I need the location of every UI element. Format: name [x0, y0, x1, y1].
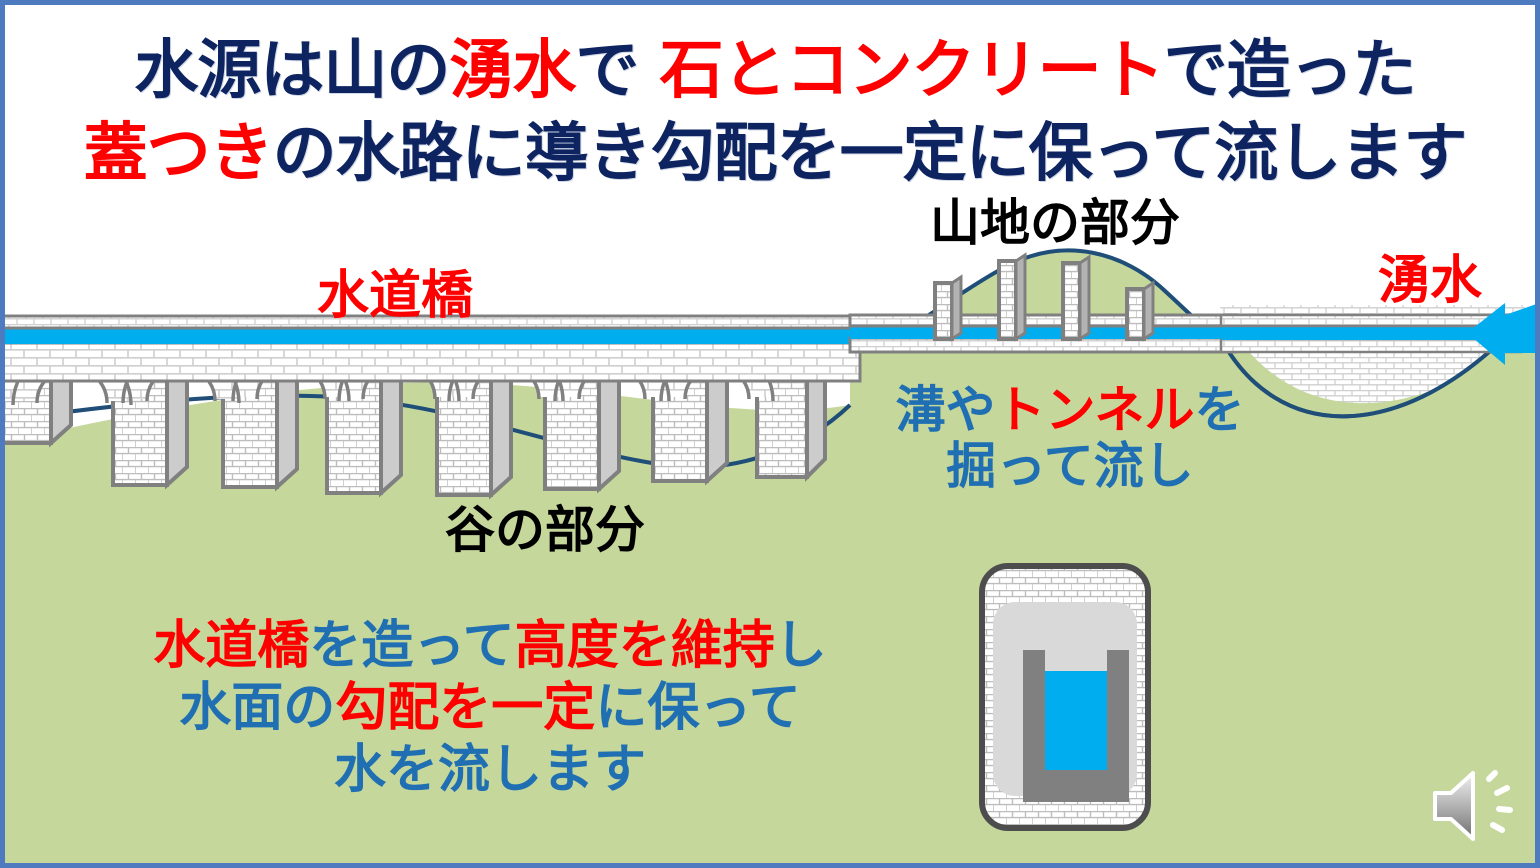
callout-tunnel-line-2: 掘って流し — [850, 441, 1290, 491]
label-mountain-section: 山地の部分 — [795, 198, 1315, 248]
callout-tunnel-l1-seg-1: 溝や — [896, 381, 996, 439]
slide-canvas: 水源は山の湧水で 石とコンクリートで造った 蓋つきの水路に導き勾配を一定に保って… — [0, 0, 1540, 868]
callout-bottom-l2-seg-1: 水面の — [179, 678, 335, 738]
title-l2-seg-2: の水路に導き勾配を一定に保って流します — [273, 117, 1467, 191]
title-line-2: 蓋つきの水路に導き勾配を一定に保って流します — [5, 122, 1540, 186]
callout-tunnel-line-1: 溝やトンネルを — [850, 385, 1290, 435]
title-l1-seg-2: 湧水 — [449, 34, 575, 108]
callout-bottom-l2-seg-2: 勾配を一定 — [335, 678, 595, 738]
callout-bottom-l1-seg-3: 高度を維持 — [515, 616, 775, 676]
title-line-1: 水源は山の湧水で 石とコンクリートで造った — [5, 39, 1540, 103]
title-l1-seg-3: で — [575, 34, 659, 108]
channel-cross-section — [982, 566, 1148, 828]
callout-bottom-line-1: 水道橋を造って高度を維持し — [50, 620, 930, 672]
callout-bottom-line-2: 水面の勾配を一定に保って — [50, 682, 930, 734]
callout-bottom-line-3: 水を流します — [50, 744, 930, 796]
title-l1-seg-1: 水源は山の — [134, 34, 449, 108]
label-spring: 湧水 — [1325, 255, 1535, 307]
callout-bottom: 水道橋を造って高度を維持し 水面の勾配を一定に保って 水を流します — [50, 620, 930, 806]
title-l1-seg-4: 石とコンクリート — [660, 34, 1164, 108]
callout-tunnel-l2-seg-1: 掘って流し — [946, 437, 1194, 495]
callout-bottom-l1-seg-2: を造って — [309, 616, 514, 676]
callout-bottom-l1-seg-1: 水道橋 — [153, 616, 309, 676]
title-l2-seg-1: 蓋つき — [84, 117, 273, 191]
callout-tunnel: 溝やトンネルを 掘って流し — [850, 385, 1290, 497]
label-aqueduct-bridge: 水道橋 — [5, 270, 785, 322]
callout-tunnel-l1-seg-3: を — [1195, 381, 1245, 439]
callout-tunnel-l1-seg-2: トンネル — [996, 381, 1195, 439]
callout-bottom-l3-seg-1: 水を流します — [334, 740, 646, 800]
title-l1-seg-5: で造った — [1164, 34, 1416, 108]
label-valley-section: 谷の部分 — [295, 505, 795, 555]
callout-bottom-l2-seg-3: に保って — [595, 678, 800, 738]
callout-bottom-l1-seg-4: し — [775, 616, 827, 676]
